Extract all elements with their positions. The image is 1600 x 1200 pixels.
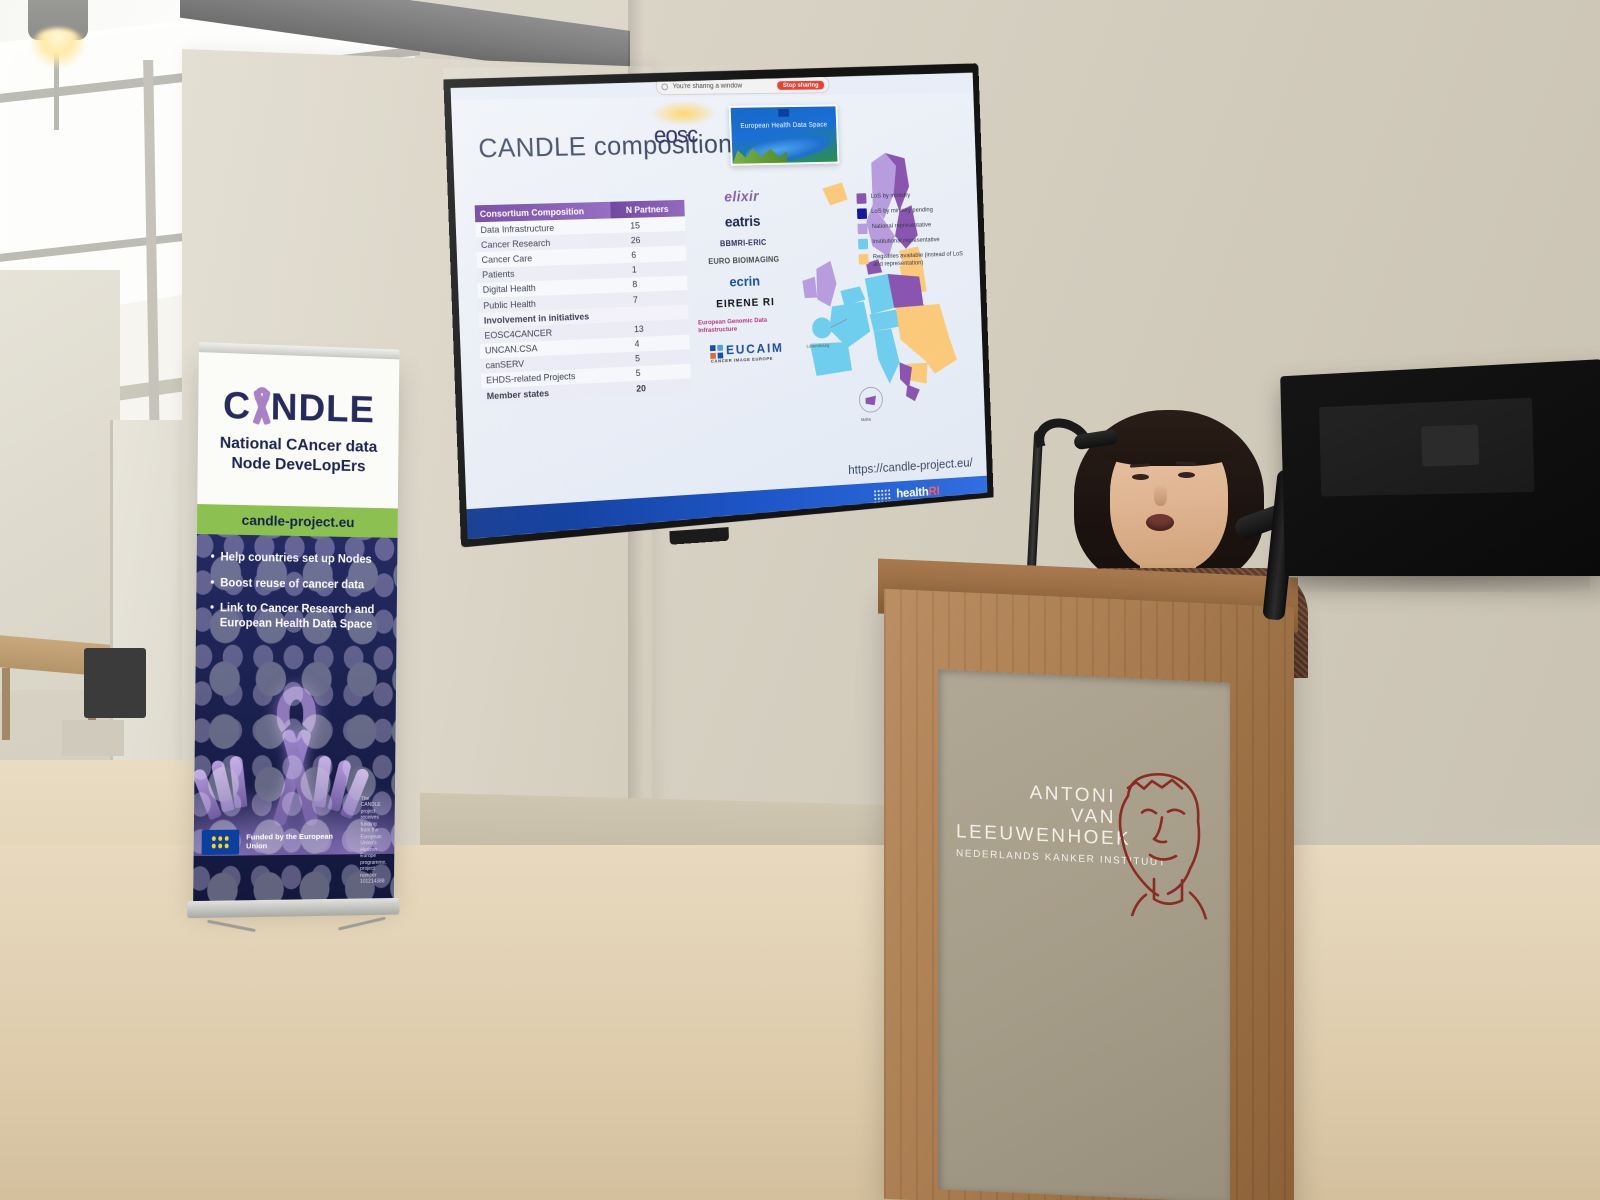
left-alcove	[0, 270, 120, 690]
map-legend: LoS by ministry LoS by ministry pending …	[856, 191, 964, 275]
legend-item: Registries available (instead of LoS and…	[859, 251, 964, 270]
map-svg: Luxembourg Malta	[785, 144, 987, 430]
legend-label: LoS by ministry	[871, 192, 911, 201]
floor-equipment-box	[84, 648, 146, 718]
radiator	[62, 720, 124, 756]
slide-url: https://candle-project.eu/	[848, 455, 973, 477]
legend-label: Institutional representative	[872, 236, 940, 246]
eu-flag-icon	[778, 109, 789, 117]
avl-wordmark: ANTONI VAN LEEUWENHOEK NEDERLANDS KANKER…	[956, 780, 1116, 866]
consortium-composition-table: Consortium Composition N Partners Data I…	[475, 200, 692, 404]
banner-website-band: candle-project.eu	[197, 504, 398, 538]
legend-label: National representative	[872, 222, 932, 232]
wall-mounted-display[interactable]: You're sharing a window Stop sharing CAN…	[443, 63, 994, 547]
legend-swatch	[859, 254, 869, 265]
eucaim-logo: EUCAIM CANCER IMAGE EUROPE	[710, 340, 784, 363]
eu-funding-row: Funded by the European Union The CANDLE …	[201, 796, 387, 888]
nose	[1154, 484, 1167, 506]
banner-subtitle: National CAncer data Node DeveLopErs	[219, 434, 377, 477]
presentation-slide: CANDLE composition Consortium Compositio…	[451, 93, 988, 539]
eucaim-grid-icon	[710, 345, 723, 359]
ecrin-logo: ecrin	[729, 273, 760, 290]
banner-body-panel: Help countries set up Nodes Boost reuse …	[193, 534, 397, 902]
share-indicator-icon	[661, 83, 668, 90]
lamp-glow	[30, 28, 86, 68]
avl-line-4: NEDERLANDS KANKER INSTITUUT	[956, 848, 1116, 866]
eu-flag-icon	[202, 830, 240, 855]
legend-swatch	[857, 208, 867, 219]
candle-rollup-banner: C NDLE National CAncer data Node DeveLop…	[193, 352, 399, 902]
bbmri-eric-logo: BBMRI-ERIC	[720, 238, 767, 248]
svg-text:Malta: Malta	[861, 417, 871, 422]
legend-item: LoS by ministry pending	[857, 206, 962, 219]
ribbon-icon	[249, 387, 273, 427]
legend-swatch	[856, 193, 866, 204]
banner-subtitle-line2: Node DeveLopErs	[219, 453, 377, 476]
legend-item: Institutional representative	[858, 236, 963, 250]
ehds-card-title: European Health Data Space	[731, 122, 836, 130]
legend-swatch	[858, 239, 868, 250]
funding-disclaimer: The CANDLE project receives funding from…	[360, 796, 387, 886]
legend-item: National representative	[857, 221, 962, 235]
eucaim-wordmark: EUCAIM	[726, 340, 784, 357]
european-genomic-data-infrastructure-logo: European Genomic Data Infrastructure	[698, 316, 794, 336]
health-ri-accent: RI	[928, 483, 939, 498]
banner-website: candle-project.eu	[242, 512, 355, 530]
eu-funded-label: Funded by the European Union	[246, 832, 354, 851]
eye	[1132, 474, 1149, 480]
lectern-podium: ANTONI VAN LEEUWENHOEK NEDERLANDS KANKER…	[878, 568, 1298, 1200]
euro-bioimaging-logo: EURO BIOIMAGING	[708, 255, 779, 266]
stop-sharing-button[interactable]: Stop sharing	[777, 80, 824, 89]
mouth	[1146, 514, 1174, 531]
europe-coverage-map: Luxembourg Malta	[785, 144, 987, 430]
eirene-ri-logo: EIRENE RI	[716, 296, 775, 310]
podium-inset-panel	[938, 669, 1230, 1200]
row-value: 20	[617, 378, 691, 396]
eosc-logo: eosc	[653, 122, 697, 150]
tv-screen[interactable]: You're sharing a window Stop sharing CAN…	[450, 73, 988, 539]
antoni-van-leeuwenhoek-logo: ANTONI VAN LEEUWENHOEK NEDERLANDS KANKER…	[956, 758, 1216, 930]
leeuwenhoek-portrait-icon	[1106, 765, 1216, 920]
share-status-label: You're sharing a window	[672, 82, 773, 90]
eye	[1178, 472, 1195, 478]
legend-label: Registries available (instead of LoS and…	[873, 251, 964, 270]
legend-swatch	[857, 224, 867, 235]
conference-room-scene: You're sharing a window Stop sharing CAN…	[0, 0, 1600, 1200]
legend-label: LoS by ministry pending	[871, 207, 933, 217]
bench-leg	[2, 668, 10, 740]
candle-logo-ndle: NDLE	[270, 386, 375, 432]
candle-logo: C NDLE	[223, 385, 375, 432]
candle-logo-c: C	[223, 385, 251, 429]
elixir-logo: elixir	[724, 188, 759, 205]
legend-item: LoS by ministry	[856, 191, 961, 204]
secondary-monitor[interactable]	[1280, 359, 1600, 576]
table-body: Data Infrastructure15 Cancer Research26 …	[475, 216, 691, 403]
banner-header-panel: C NDLE National CAncer data Node DeveLop…	[197, 352, 399, 508]
partner-logos-column: elixir eatris BBMRI-ERIC EURO BIOIMAGING…	[693, 188, 795, 365]
eatris-logo: eatris	[725, 213, 761, 230]
monitor-vesa-mount	[1421, 424, 1479, 466]
